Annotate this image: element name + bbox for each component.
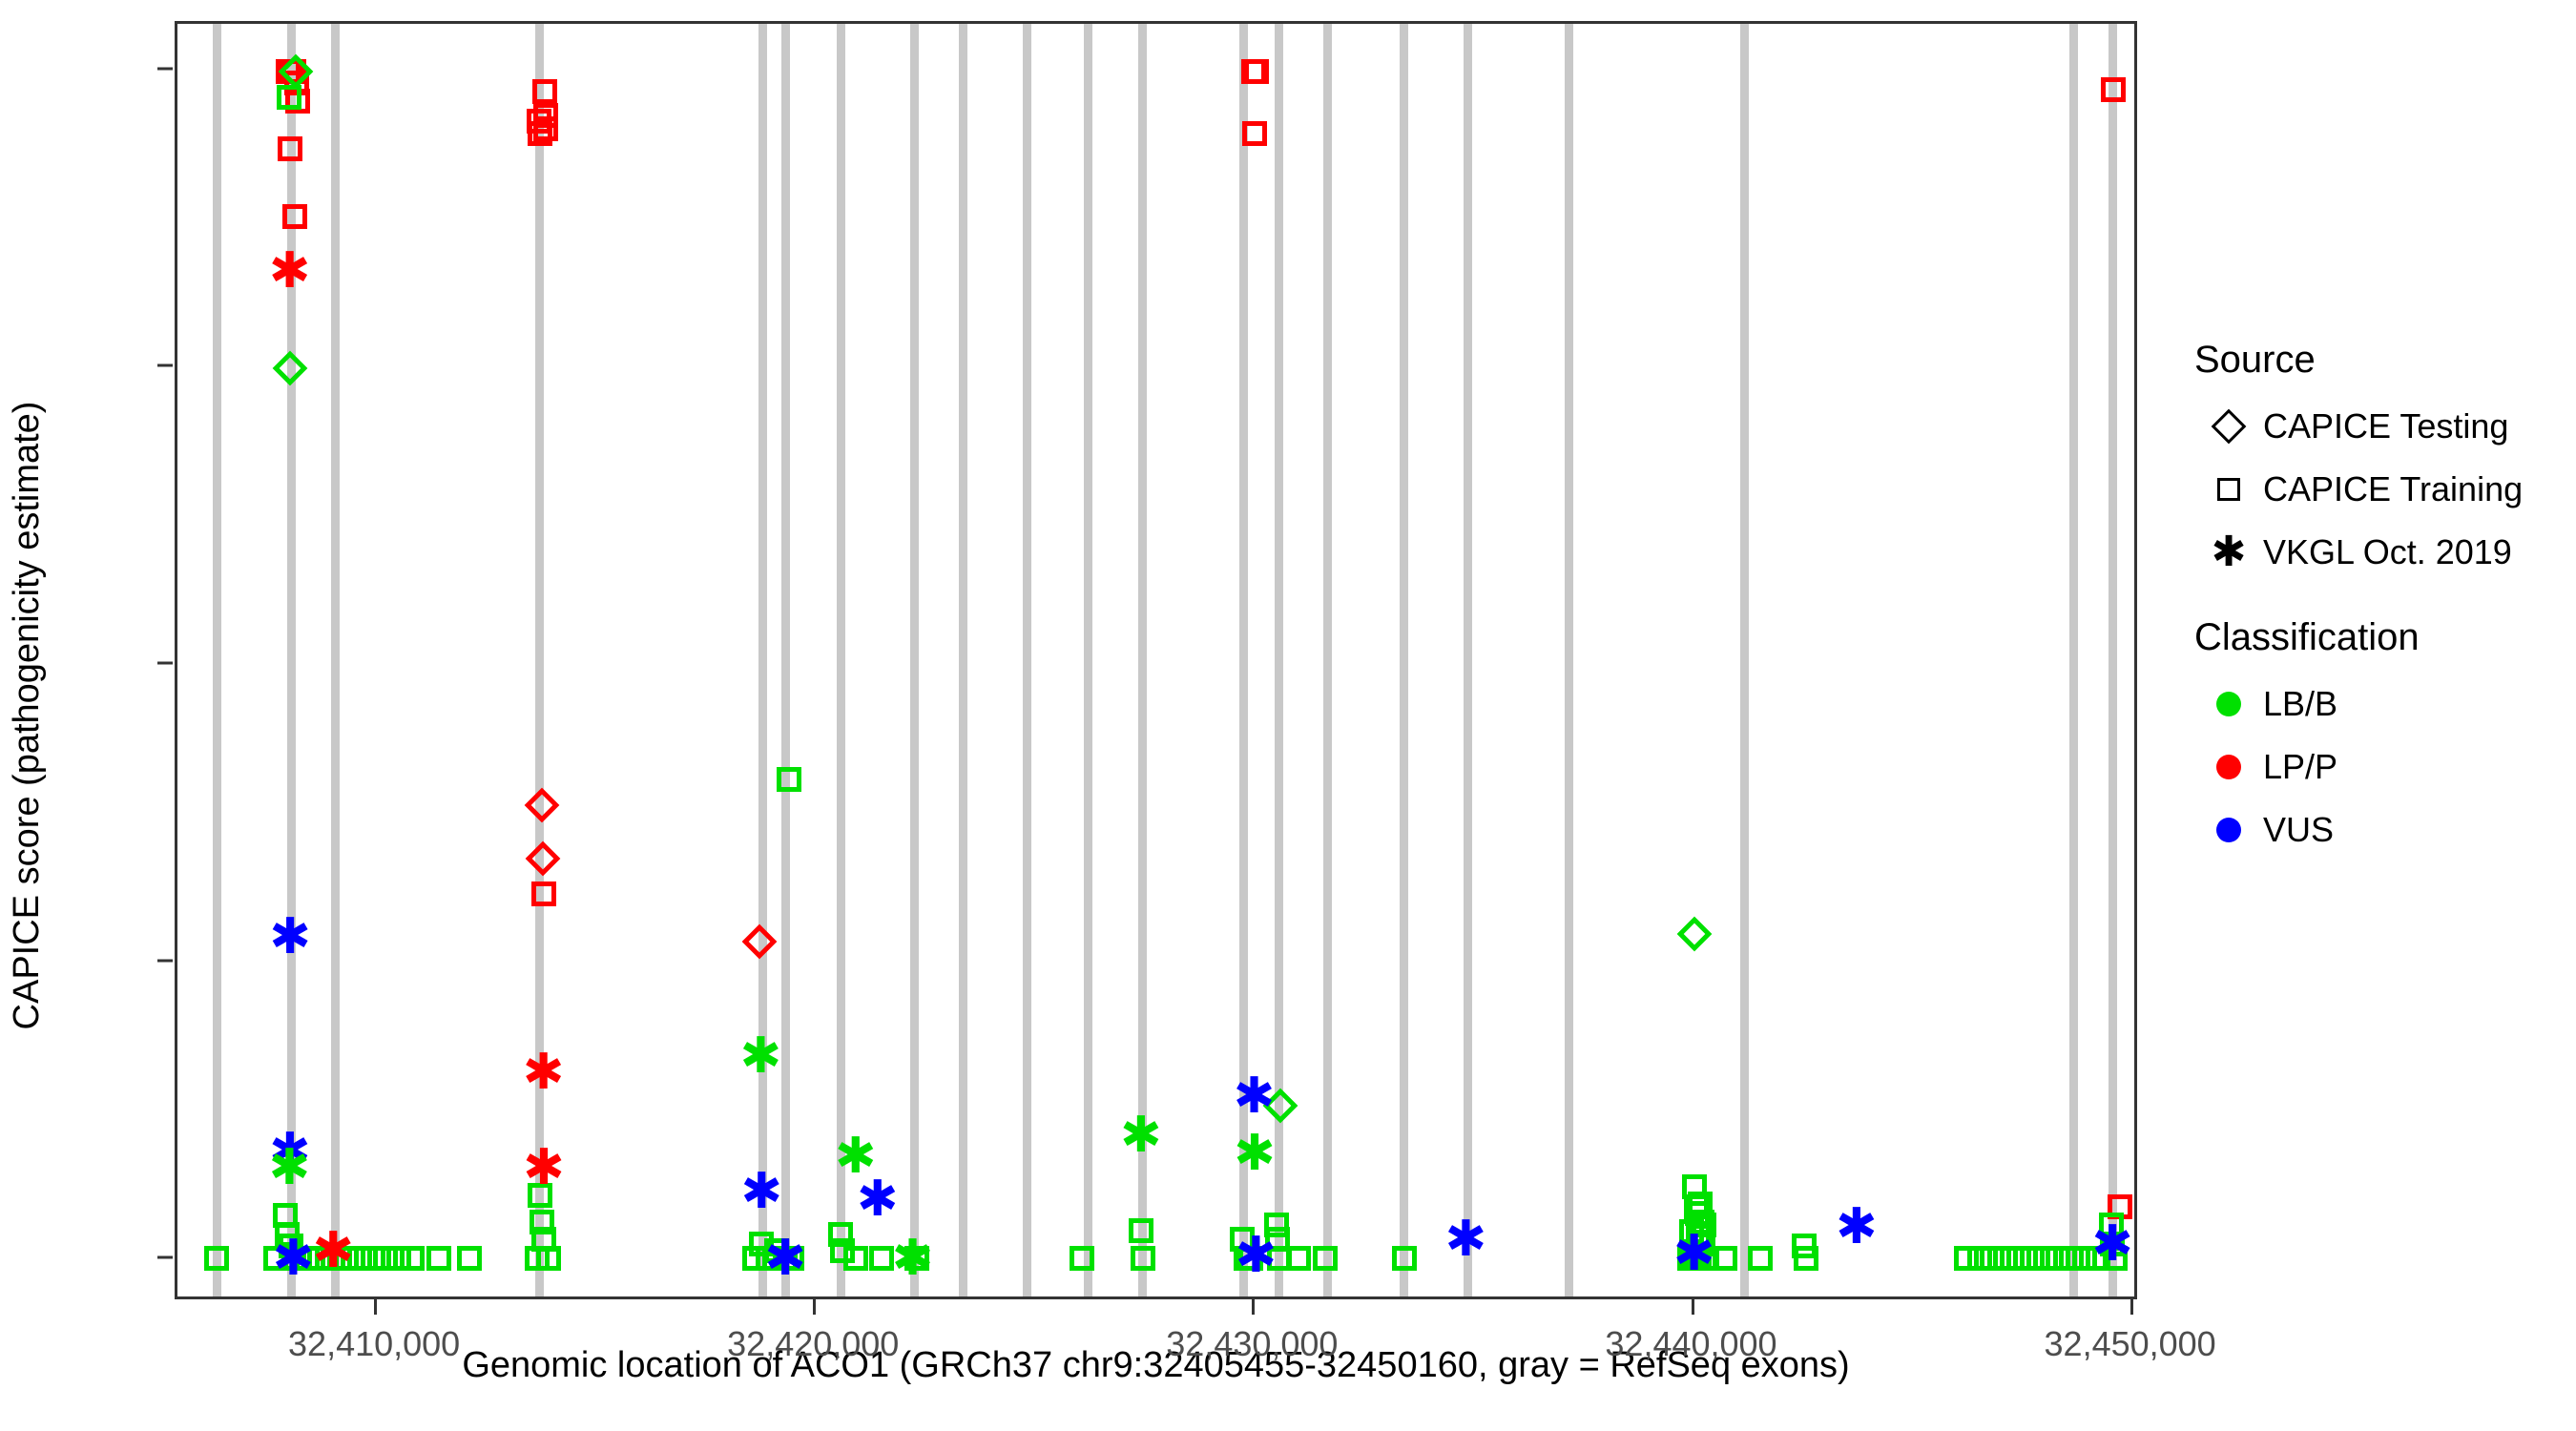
x-axis-tick [813,1299,816,1315]
legend-item-lp-p[interactable]: LP/P [2194,736,2576,798]
exon-bar [837,24,845,1296]
exon-bar [2109,24,2117,1296]
exon-bar [910,24,919,1296]
data-point-training [2006,1246,2031,1271]
x-axis-tick [1692,1299,1694,1315]
x-axis-tick [1252,1299,1255,1315]
data-point-training [1690,1210,1714,1234]
y-axis-tick [157,1256,173,1259]
data-point-training [1967,1246,1992,1271]
color-dot-icon [2194,818,2263,842]
data-point-training [1686,1224,1711,1249]
y-axis-tick [157,67,173,70]
color-dot-icon [2194,692,2263,716]
x-axis-tick-label: 32,430,000 [1099,1324,1404,1364]
x-axis-tick-label: 32,420,000 [660,1324,966,1364]
legend-item-lb-b[interactable]: LB/B [2194,673,2576,736]
data-point-training [1748,1246,1773,1271]
data-point-training [1679,1219,1704,1244]
data-point-training [1677,1246,1702,1271]
data-point-training [1682,1246,1707,1271]
x-axis-tick-label: 32,440,000 [1539,1324,1844,1364]
x-axis-tick [374,1299,377,1315]
data-point-vkgl: ✱ [523,1143,565,1192]
x-axis-tick [2130,1299,2133,1315]
data-point-training [1794,1246,1818,1271]
legend-item-label: VUS [2263,810,2334,850]
exon-bar [781,24,790,1296]
exon-bar [1400,24,1408,1296]
data-point-training [347,1246,372,1271]
legend-item-label: CAPICE Testing [2263,406,2508,446]
legend-item-diamond[interactable]: CAPICE Testing [2194,395,2576,458]
y-axis-title: CAPICE score (pathogenicity estimate) [0,0,53,1431]
data-point-training [2046,1246,2070,1271]
exon-bar [1464,24,1472,1296]
exon-bar [287,24,296,1296]
data-point-training [263,1246,288,1271]
data-point-training [386,1246,411,1271]
y-axis-tick [157,364,173,367]
exon-bar [959,24,967,1296]
legend-classification-title: Classification [2194,616,2576,659]
color-dot-icon [2194,755,2263,779]
data-point-vkgl: ✱ [1836,1202,1878,1252]
data-point-training [1792,1234,1817,1258]
y-axis-tick [157,959,173,962]
data-point-training [2033,1246,2058,1271]
exon-bar [1138,24,1147,1296]
data-point-training [373,1246,398,1271]
legend-item-vus[interactable]: VUS [2194,798,2576,861]
exon-bar [1740,24,1749,1296]
data-point-training [1954,1246,1979,1271]
data-point-training [1688,1192,1713,1216]
data-point-training [1691,1232,1715,1256]
legend-item-square[interactable]: CAPICE Training [2194,458,2576,521]
legend-source-group: Source CAPICE TestingCAPICE Training✱VKG… [2194,339,2576,584]
legend-item-label: CAPICE Training [2263,469,2523,509]
data-point-vkgl: ✱ [857,1174,899,1224]
data-point-training [307,1246,332,1271]
data-point-training [869,1246,894,1271]
legend-item-label: LB/B [2263,684,2337,724]
data-point-training [400,1246,425,1271]
exon-bar [1565,24,1573,1296]
data-point-training [1687,1246,1712,1271]
data-point-training [1286,1246,1311,1271]
exon-bar [1023,24,1031,1296]
chart-root: CAPICE score (pathogenicity estimate) ✱✱… [0,0,2576,1431]
legend-item-asterisk[interactable]: ✱VKGL Oct. 2019 [2194,521,2576,584]
exon-bar [213,24,221,1296]
data-point-training [457,1246,482,1271]
diamond-icon [2194,414,2263,439]
data-point-training [1993,1246,2018,1271]
data-point-training [426,1246,451,1271]
asterisk-icon: ✱ [2194,535,2263,569]
legend-source-title: Source [2194,339,2576,382]
exon-bar [1084,24,1092,1296]
data-point-training [1980,1246,2005,1271]
x-axis-tick-label: 32,450,000 [1978,1324,2283,1364]
data-point-training [1685,1201,1710,1226]
exon-bar [1239,24,1248,1296]
data-point-training [1713,1246,1737,1271]
plot-panel: ✱✱✱✱✱✱✱✱✱✱✱✱✱✱✱✱✱✱✱✱✱✱ [175,21,2137,1299]
legend-item-label: LP/P [2263,747,2337,787]
legend: Source CAPICE TestingCAPICE Training✱VKG… [2194,339,2576,861]
data-point-training [2020,1246,2045,1271]
data-point-training [1684,1194,1709,1219]
legend-item-label: VKGL Oct. 2019 [2263,532,2512,572]
y-axis-tick [157,662,173,665]
exon-bar [758,24,767,1296]
exon-bar [1275,24,1283,1296]
data-point-training [295,1246,320,1271]
data-point-training [1694,1246,1719,1271]
square-icon [2194,478,2263,501]
data-point-vkgl: ✱ [1673,1229,1715,1278]
exon-bar [1323,24,1332,1296]
data-point-training [361,1246,385,1271]
exon-bar [331,24,340,1296]
data-point-training [1692,1213,1716,1237]
data-point-training [2086,1246,2110,1271]
exon-bar [535,24,544,1296]
data-point-training [843,1246,868,1271]
x-axis-tick-label: 32,410,000 [221,1324,527,1364]
exon-bar [2069,24,2078,1296]
data-point-training [1682,1174,1707,1199]
plot-area: ✱✱✱✱✱✱✱✱✱✱✱✱✱✱✱✱✱✱✱✱✱✱ [177,24,2134,1296]
data-point-testing [1676,916,1712,951]
legend-classification-group: Classification LB/BLP/PVUS [2194,616,2576,861]
